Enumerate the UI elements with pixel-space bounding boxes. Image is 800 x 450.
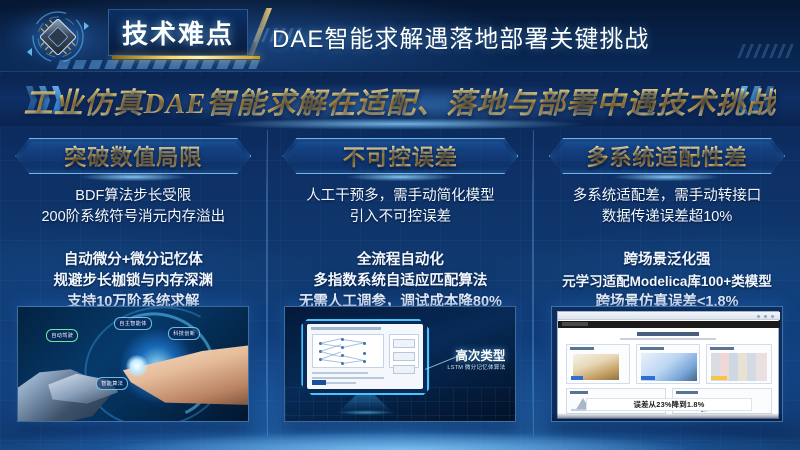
image-caption-title: 高次类型 xyxy=(455,345,505,364)
list-item: 全流程自动化 xyxy=(276,250,526,271)
photo-tag: 自主智能体 xyxy=(114,317,151,330)
header-subtitle-wrap: DAE智能求解遇落地部署关键挑战 xyxy=(272,16,782,56)
cpu-chip-icon xyxy=(6,8,110,66)
column-3-heading: 多系统适配性差 xyxy=(586,140,747,172)
app-window: 误差从23%降到1.8% xyxy=(557,311,779,419)
column-3-heading-frame: 多系统适配性差 xyxy=(549,138,785,174)
touch-spark-icon xyxy=(126,355,148,377)
column-1-solution-list: 自动微分+微分记忆体 规避步长枷锁与内存深渊 支持10万阶系统求解 xyxy=(8,250,259,313)
window-titlebar xyxy=(558,312,780,320)
columns-container: 突破数值局限 BDF算法步长受限 200阶系统符号消元内存溢出 自动微分+微分记… xyxy=(0,130,800,436)
screen-action-button xyxy=(312,380,326,385)
section-title: 技术难点 xyxy=(122,14,234,51)
list-item: 200阶系统符号消元内存溢出 xyxy=(8,207,259,228)
report-panel xyxy=(566,344,630,384)
photo-tag: 科技创新 xyxy=(168,327,200,340)
header-subtitle: DAE智能求解遇落地部署关键挑战 xyxy=(272,19,649,54)
screen-side-panel xyxy=(389,334,419,368)
header-bar: 技术难点 DAE智能求解遇落地部署关键挑战 xyxy=(0,0,800,72)
result-note-text: 误差从23%降到1.8% xyxy=(633,399,704,410)
photo-tag: 智能算法 xyxy=(96,377,128,390)
heading-underglow xyxy=(325,171,475,183)
list-item: 多指数系统自适应匹配算法 xyxy=(276,271,526,292)
list-item: 多系统适配差，需手动转接口 xyxy=(542,186,792,207)
window-menubar xyxy=(558,321,780,328)
column-2-solution-list: 全流程自动化 多指数系统自适应匹配算法 无需人工调参，调试成本降80% xyxy=(276,250,526,313)
screen-toolbar xyxy=(311,327,381,330)
document-title-bar xyxy=(637,332,699,336)
list-item: 元学习适配Modelica库100+类模型 xyxy=(542,271,792,292)
monitor-neural-network-screenshot: 高次类型 LSTM 微分记忆体算法 xyxy=(284,306,516,422)
robot-hand-touch-photo: 自动驾驶 自主智能体 科技创新 智能算法 xyxy=(17,306,249,422)
column-2: 不可控误差 人工干预多，需手动简化模型 引入不可控误差 全流程自动化 多指数系统… xyxy=(267,130,534,436)
monitor-screen xyxy=(307,324,423,389)
list-item: BDF算法步长受限 xyxy=(8,186,259,207)
column-1: 突破数值局限 BDF算法步长受限 200阶系统符号消元内存溢出 自动微分+微分记… xyxy=(0,130,267,436)
title-gold-underline xyxy=(112,56,260,59)
slide-root: 技术难点 DAE智能求解遇落地部署关键挑战 工业仿真DAE智能求解在适配、落地与… xyxy=(0,0,800,450)
column-2-problem-list: 人工干预多，需手动简化模型 引入不可控误差 xyxy=(276,186,526,228)
list-item: 跨场景泛化强 xyxy=(542,250,792,271)
report-panel xyxy=(706,344,772,384)
monitor-base-glow xyxy=(325,409,407,416)
photo-tag: 自动驾驶 xyxy=(46,329,78,342)
column-1-heading-frame: 突破数值局限 xyxy=(15,138,251,174)
image-caption-subtitle: LSTM 微分记忆体算法 xyxy=(447,363,505,371)
column-1-heading: 突破数值局限 xyxy=(64,140,202,172)
result-note: 误差从23%降到1.8% xyxy=(586,398,752,411)
list-item: 规避步长枷锁与内存深渊 xyxy=(8,271,259,292)
column-3-solution-list: 跨场景泛化强 元学习适配Modelica库100+类模型 跨场景仿真误差<1.8… xyxy=(542,250,792,313)
heading-underglow xyxy=(58,171,208,183)
column-1-problem-list: BDF算法步长受限 200阶系统符号消元内存溢出 xyxy=(8,186,259,228)
window-bottom-shadow xyxy=(552,413,783,421)
column-2-heading: 不可控误差 xyxy=(343,140,458,172)
column-3-problem-list: 多系统适配差，需手动转接口 数据传递误差超10% xyxy=(542,186,792,228)
column-3: 多系统适配性差 多系统适配差，需手动转接口 数据传递误差超10% 跨场景泛化强 … xyxy=(533,130,800,436)
report-panel xyxy=(636,344,700,384)
document-subtitle-bar xyxy=(620,338,716,340)
list-item: 自动微分+微分记忆体 xyxy=(8,250,259,271)
heading-underglow xyxy=(592,171,742,183)
list-item: 人工干预多，需手动简化模型 xyxy=(276,186,526,207)
column-2-heading-frame: 不可控误差 xyxy=(282,138,518,174)
section-title-plate: 技术难点 xyxy=(108,9,248,56)
list-item: 数据传递误差超10% xyxy=(542,207,792,228)
list-item: 引入不可控误差 xyxy=(276,207,526,228)
app-window-report-screenshot: 误差从23%降到1.8% xyxy=(551,306,783,422)
